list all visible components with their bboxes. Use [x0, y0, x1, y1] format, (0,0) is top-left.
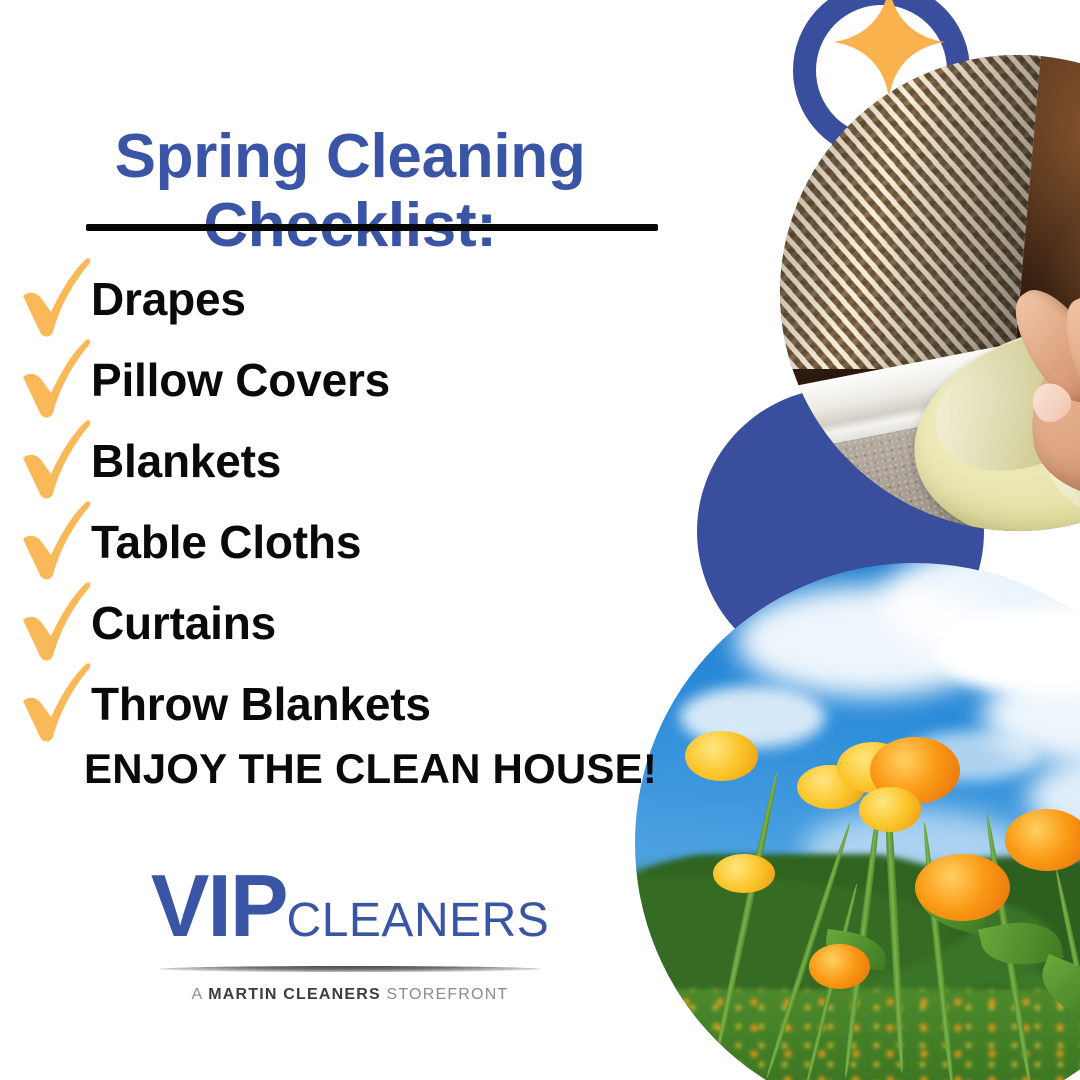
list-item[interactable]: Drapes [0, 258, 700, 339]
poster-canvas: Spring Cleaning Checklist: Drapes [0, 0, 1080, 1080]
closing-message: ENJOY THE CLEAN HOUSE! [0, 745, 700, 793]
brand-logo: VIPCLEANERS A MARTIN CLEANERS STOREFRONT [0, 862, 700, 1004]
list-item[interactable]: Pillow Covers [0, 339, 700, 420]
title-divider [86, 224, 658, 231]
list-item-label: Pillow Covers [91, 353, 390, 407]
logo-divider [159, 966, 541, 972]
list-item-label: Curtains [91, 596, 276, 650]
orange-four-point-star-icon [833, 0, 945, 98]
page-title: Spring Cleaning Checklist: [0, 122, 700, 261]
title-line-1: Spring Cleaning [115, 122, 586, 191]
orange-checkmark-icon [20, 585, 94, 661]
checklist: Drapes Pillow Covers Blankets [0, 258, 700, 744]
photo-cleaning-window-sill [780, 55, 1080, 531]
list-item-label: Drapes [91, 272, 246, 326]
blue-ring-icon [793, 0, 970, 159]
list-item-label: Blankets [91, 434, 281, 488]
photo-spring-flowers [635, 563, 1080, 1080]
orange-checkmark-icon [20, 504, 94, 580]
list-item-label: Throw Blankets [91, 677, 431, 731]
list-item[interactable]: Throw Blankets [0, 663, 700, 744]
orange-checkmark-icon [20, 261, 94, 337]
tagline-brand: MARTIN CLEANERS [208, 986, 381, 1003]
poster-content: Spring Cleaning Checklist: Drapes [0, 0, 700, 1080]
list-item-label: Table Cloths [91, 515, 361, 569]
logo-wordmark: VIPCLEANERS [151, 862, 550, 950]
orange-checkmark-icon [20, 342, 94, 418]
logo-vip-text: VIP [151, 856, 287, 955]
logo-tagline: A MARTIN CLEANERS STOREFRONT [0, 986, 700, 1004]
list-item[interactable]: Table Cloths [0, 501, 700, 582]
orange-checkmark-icon [20, 423, 94, 499]
tagline-prefix: A [192, 986, 209, 1003]
tagline-suffix: STOREFRONT [381, 986, 509, 1003]
list-item[interactable]: Curtains [0, 582, 700, 663]
blue-circle-decoration [697, 388, 984, 675]
orange-checkmark-icon [20, 666, 94, 742]
logo-cleaners-text: CLEANERS [287, 894, 550, 947]
list-item[interactable]: Blankets [0, 420, 700, 501]
